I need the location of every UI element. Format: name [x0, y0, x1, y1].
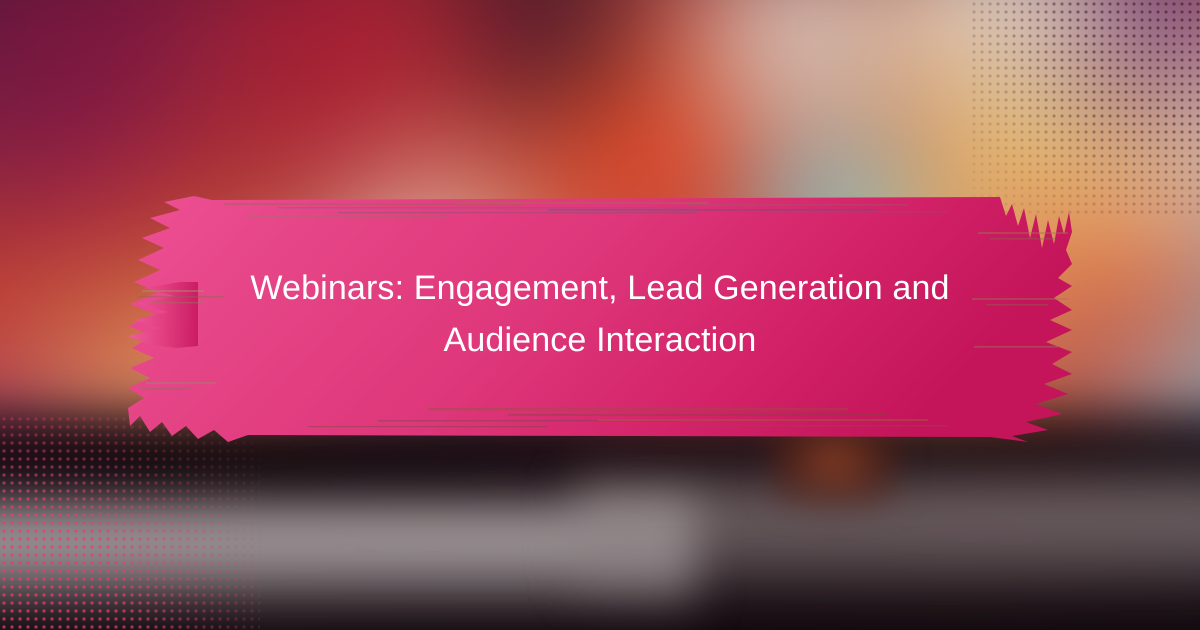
- headline-line-1: Webinars: Engagement, Lead Generation an…: [150, 262, 1050, 314]
- headline: Webinars: Engagement, Lead Generation an…: [150, 262, 1050, 366]
- social-share-card: Webinars: Engagement, Lead Generation an…: [0, 0, 1200, 630]
- headline-line-2: Audience Interaction: [150, 314, 1050, 366]
